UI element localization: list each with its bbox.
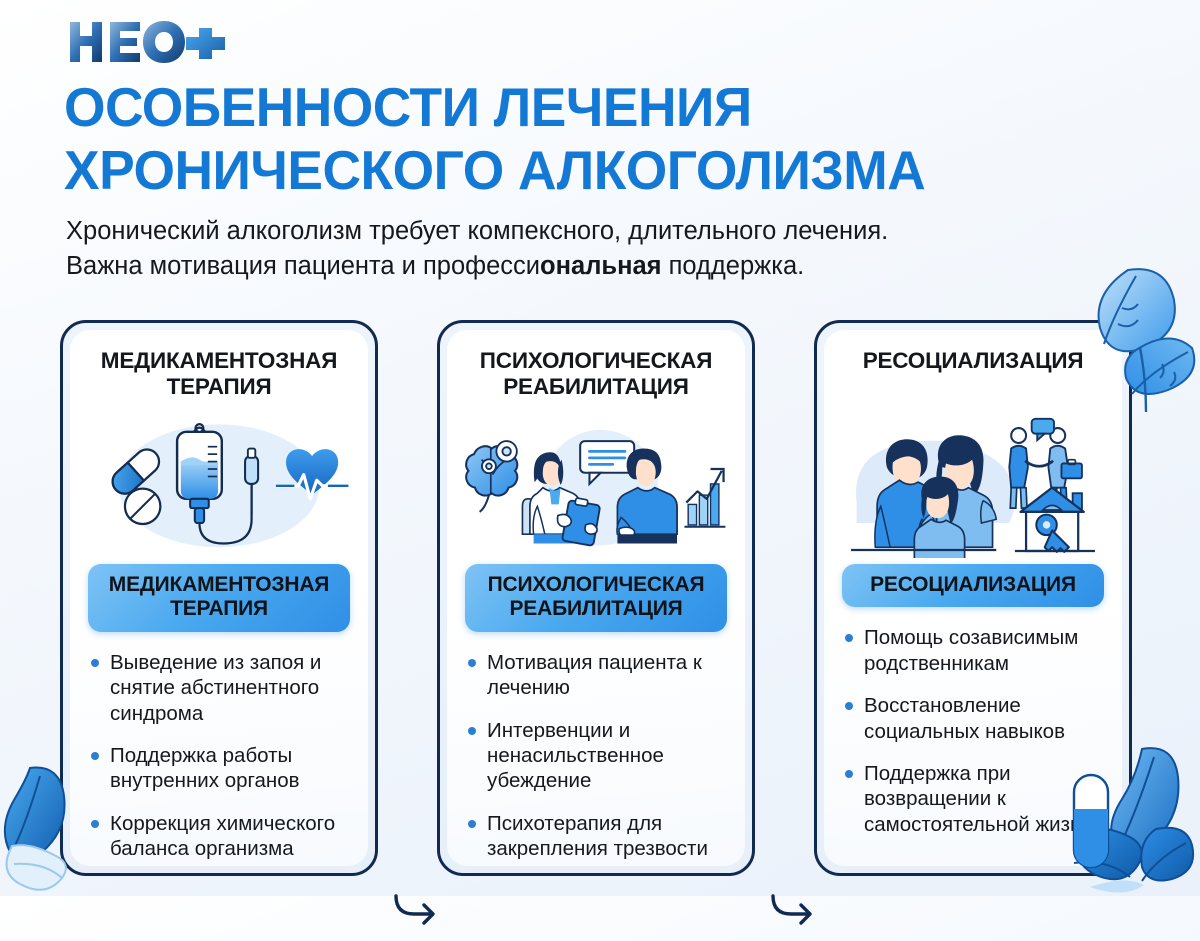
- list-item: Поддержка при возвращении к самостоятель…: [844, 761, 1106, 837]
- card-resocializaciya[interactable]: РЕСОЦИАЛИЗАЦИЯ: [814, 320, 1132, 876]
- subtitle-line-2: Важна мотивация пациента и профессиональ…: [66, 249, 1066, 284]
- card-medikamentoznaya-terapiya[interactable]: МЕДИКАМЕНТОЗНАЯ ТЕРАПИЯ: [60, 320, 378, 876]
- list-item: Помощь созависимым родственникам: [844, 625, 1106, 676]
- page-title-line-2: ХРОНИЧЕСКОГО АЛКОГОЛИЗМА: [64, 139, 1121, 202]
- subtitle-line-2-c: поддержка.: [662, 252, 805, 280]
- list-item: Мотивация пациента к лечению: [467, 650, 729, 701]
- card-inner: МЕДИКАМЕНТОЗНАЯ ТЕРАПИЯ: [70, 330, 368, 866]
- subtitle-line-2-bold: ональная: [540, 252, 662, 280]
- arrow-card1-to-card2-icon: [394, 890, 440, 936]
- illustration-therapy-session: [461, 408, 731, 558]
- brand-logo: [68, 18, 238, 66]
- card-inner: ПСИХОЛОГИЧЕСКАЯ РЕАБИЛИТАЦИЯ: [447, 330, 745, 866]
- card-psihologicheskaya-reabilitaciya[interactable]: ПСИХОЛОГИЧЕСКАЯ РЕАБИЛИТАЦИЯ: [437, 320, 755, 876]
- card-heading: МЕДИКАМЕНТОЗНАЯ ТЕРАПИЯ: [84, 348, 354, 404]
- arrow-card2-to-card3-icon: [771, 890, 817, 936]
- card-inner: РЕСОЦИАЛИЗАЦИЯ: [824, 330, 1122, 866]
- illustration-pills-iv-heart: [84, 408, 354, 558]
- card-badge[interactable]: РЕСОЦИАЛИЗАЦИЯ: [842, 564, 1104, 607]
- card-badge[interactable]: МЕДИКАМЕНТОЗНАЯ ТЕРАПИЯ: [88, 564, 350, 632]
- page-subtitle: Хронический алкоголизм требует компексно…: [66, 214, 1066, 284]
- list-item: Психотерапия для закрепления трезвости: [467, 811, 729, 862]
- list-item: Интервенции и ненасильственное убеждение: [467, 718, 729, 794]
- card-badge[interactable]: ПСИХОЛОГИЧЕСКАЯ РЕАБИЛИТАЦИЯ: [465, 564, 727, 632]
- card-heading: РЕСОЦИАЛИЗАЦИЯ: [863, 348, 1084, 404]
- card-heading: ПСИХОЛОГИЧЕСКАЯ РЕАБИЛИТАЦИЯ: [461, 348, 731, 404]
- subtitle-line-1: Хронический алкоголизм требует компексно…: [66, 214, 1066, 249]
- list-item: Выведение из запоя и снятие абстинентног…: [90, 650, 352, 726]
- card-bullet-list: Помощь созависимым родственникам Восстан…: [838, 625, 1108, 854]
- list-item: Коррекция химического баланса организма: [90, 811, 352, 862]
- list-item: Поддержка работы внутренних органов: [90, 743, 352, 794]
- subtitle-line-2-a: Важна мотивация пациента и професси: [66, 252, 540, 280]
- cards-container: МЕДИКАМЕНТОЗНАЯ ТЕРАПИЯ: [0, 320, 1200, 880]
- illustration-family-handshake-house: [838, 408, 1108, 558]
- list-item: Восстановление социальных навыков: [844, 693, 1106, 744]
- page-title: ОСОБЕННОСТИ ЛЕЧЕНИЯ ХРОНИЧЕСКОГО АЛКОГОЛ…: [64, 76, 1121, 201]
- card-bullet-list: Мотивация пациента к лечению Интервенции…: [461, 650, 731, 866]
- card-bullet-list: Выведение из запоя и снятие абстинентног…: [84, 650, 354, 866]
- page-title-line-1: ОСОБЕННОСТИ ЛЕЧЕНИЯ: [64, 76, 1121, 139]
